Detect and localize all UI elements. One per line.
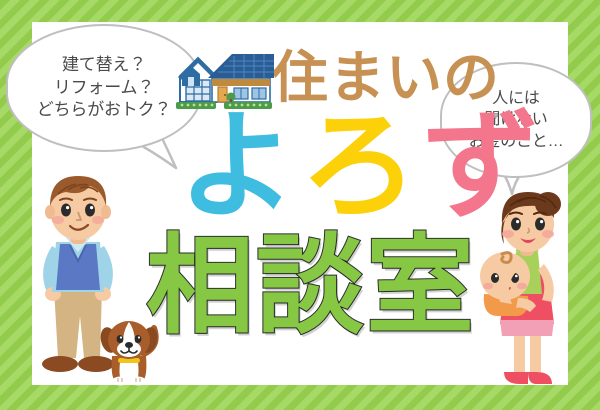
- question-bubble-left: 建て替え？ リフォーム？ どちらがおトク？: [6, 24, 202, 152]
- banner-root: 住まいの よろず 相談室 建て替え？ リフォーム？ どちらがおトク？ 人には 聞…: [0, 0, 600, 410]
- dog-character-illustration: [98, 318, 160, 386]
- woman-holding-baby-illustration: [478, 190, 574, 390]
- house-with-solar-panels-icon: [174, 42, 276, 114]
- headline-line-1: 住まいの: [272, 50, 500, 106]
- kana-ro: ろ: [300, 108, 422, 226]
- page-title: 住まいのよろず相談室: [0, 21, 1, 22]
- headline-line-3: 相談室: [146, 232, 476, 340]
- bubble-left-line-3: どちらがおトク？: [37, 99, 171, 121]
- bubble-left-line-2: リフォーム？: [37, 77, 171, 99]
- kana-yo: よ: [178, 108, 300, 226]
- bubble-left-line-1: 建て替え？: [37, 54, 171, 76]
